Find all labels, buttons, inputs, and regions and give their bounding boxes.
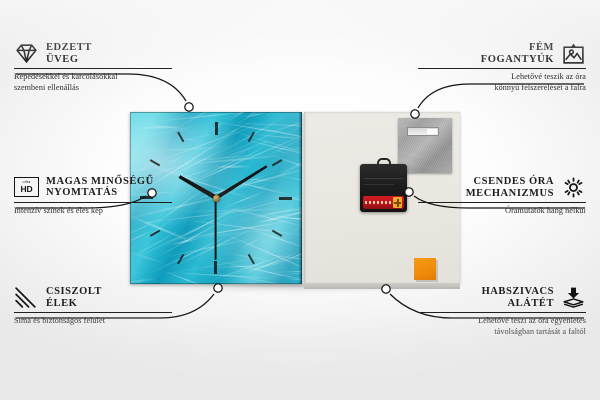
gear-icon bbox=[561, 176, 586, 199]
product-image bbox=[130, 112, 460, 284]
feature-title-line1: CSENDES ÓRA bbox=[474, 176, 554, 187]
feature-divider bbox=[418, 68, 586, 69]
feature-head: CSISZOLT ÉLEK bbox=[14, 286, 172, 309]
hanger-keyhole-slot bbox=[407, 127, 439, 136]
feature-description: Lehetővé teszi az óra egyenletes távolsá… bbox=[418, 316, 586, 337]
feature-foam-pad[interactable]: HABSZIVACS ALÁTÉT Lehetővé teszi az óra … bbox=[418, 286, 586, 338]
feature-description: Óramutatók hang nélkül bbox=[418, 206, 586, 217]
ultra-hd-icon: ultra HD bbox=[14, 177, 39, 197]
movement-seam-secondary bbox=[364, 184, 394, 185]
foam-spacer-pad bbox=[414, 258, 436, 280]
foam-stack-icon bbox=[561, 286, 586, 309]
battery bbox=[363, 196, 404, 209]
feature-description: Intenzív színek és éles kép bbox=[14, 206, 172, 217]
feature-divider bbox=[14, 68, 172, 69]
movement-hanger-loop bbox=[377, 158, 391, 167]
clock-movement-box bbox=[360, 164, 407, 212]
feature-high-quality-print[interactable]: ultra HD MAGAS MINŐSÉGŰ NYOMTATÁS Intenz… bbox=[14, 176, 172, 217]
feature-titles: FÉM FOGANTYÚK bbox=[481, 42, 554, 65]
picture-hanger-icon bbox=[561, 42, 586, 65]
feature-metal-handles[interactable]: FÉM FOGANTYÚK Lehetővé teszik az óra kön… bbox=[418, 42, 586, 94]
diagonal-lines-icon bbox=[14, 286, 39, 309]
feature-head: ultra HD MAGAS MINŐSÉGŰ NYOMTATÁS bbox=[14, 176, 172, 199]
feature-title-line2: FOGANTYÚK bbox=[481, 54, 554, 65]
feature-titles: EDZETT ÜVEG bbox=[46, 42, 92, 65]
feature-title-line1: HABSZIVACS bbox=[482, 286, 554, 297]
feature-title-line2: ÜVEG bbox=[46, 54, 92, 65]
feature-title-line1: MAGAS MINŐSÉGŰ bbox=[46, 176, 154, 187]
feature-description: Lehetővé teszik az óra könnyű felszerelé… bbox=[418, 72, 586, 93]
clock-edge-highlight bbox=[299, 112, 302, 284]
battery-terminal bbox=[393, 197, 402, 208]
feature-description: Sima és biztonságos felület bbox=[14, 316, 172, 327]
diamond-icon bbox=[14, 42, 39, 65]
feature-divider bbox=[418, 202, 586, 203]
feature-title-line2: MECHANIZMUS bbox=[466, 188, 554, 199]
feature-titles: CSISZOLT ÉLEK bbox=[46, 286, 102, 309]
feature-titles: MAGAS MINŐSÉGŰ NYOMTATÁS bbox=[46, 176, 154, 199]
feature-head: HABSZIVACS ALÁTÉT bbox=[418, 286, 586, 309]
infographic-canvas: EDZETT ÜVEG Repedésekkel és karcolásokka… bbox=[0, 0, 600, 400]
feature-title-line2: ALÁTÉT bbox=[508, 298, 554, 309]
feature-title-line1: CSISZOLT bbox=[46, 286, 102, 297]
feature-title-line1: EDZETT bbox=[46, 42, 92, 53]
feature-silent-mechanism[interactable]: CSENDES ÓRA MECHANIZMUS Óramutatók hang … bbox=[418, 176, 586, 217]
feature-head: CSENDES ÓRA MECHANIZMUS bbox=[418, 176, 586, 199]
feature-title-line2: ÉLEK bbox=[46, 298, 102, 309]
feature-head: EDZETT ÜVEG bbox=[14, 42, 172, 65]
movement-seam bbox=[364, 178, 403, 179]
feature-titles: CSENDES ÓRA MECHANIZMUS bbox=[466, 176, 554, 199]
feature-divider bbox=[14, 312, 172, 313]
feature-divider bbox=[418, 312, 586, 313]
feature-polished-edges[interactable]: CSISZOLT ÉLEK Sima és biztonságos felüle… bbox=[14, 286, 172, 327]
feature-divider bbox=[14, 202, 172, 203]
feature-titles: HABSZIVACS ALÁTÉT bbox=[482, 286, 554, 309]
feature-description: Repedésekkel és karcolásokkal szembeni e… bbox=[14, 72, 172, 93]
feature-title-line1: FÉM bbox=[529, 42, 554, 53]
feature-title-line2: NYOMTATÁS bbox=[46, 187, 154, 198]
ultra-hd-big-label: HD bbox=[21, 185, 33, 194]
feature-head: FÉM FOGANTYÚK bbox=[418, 42, 586, 65]
feature-tempered-glass[interactable]: EDZETT ÜVEG Repedésekkel és karcolásokka… bbox=[14, 42, 172, 94]
